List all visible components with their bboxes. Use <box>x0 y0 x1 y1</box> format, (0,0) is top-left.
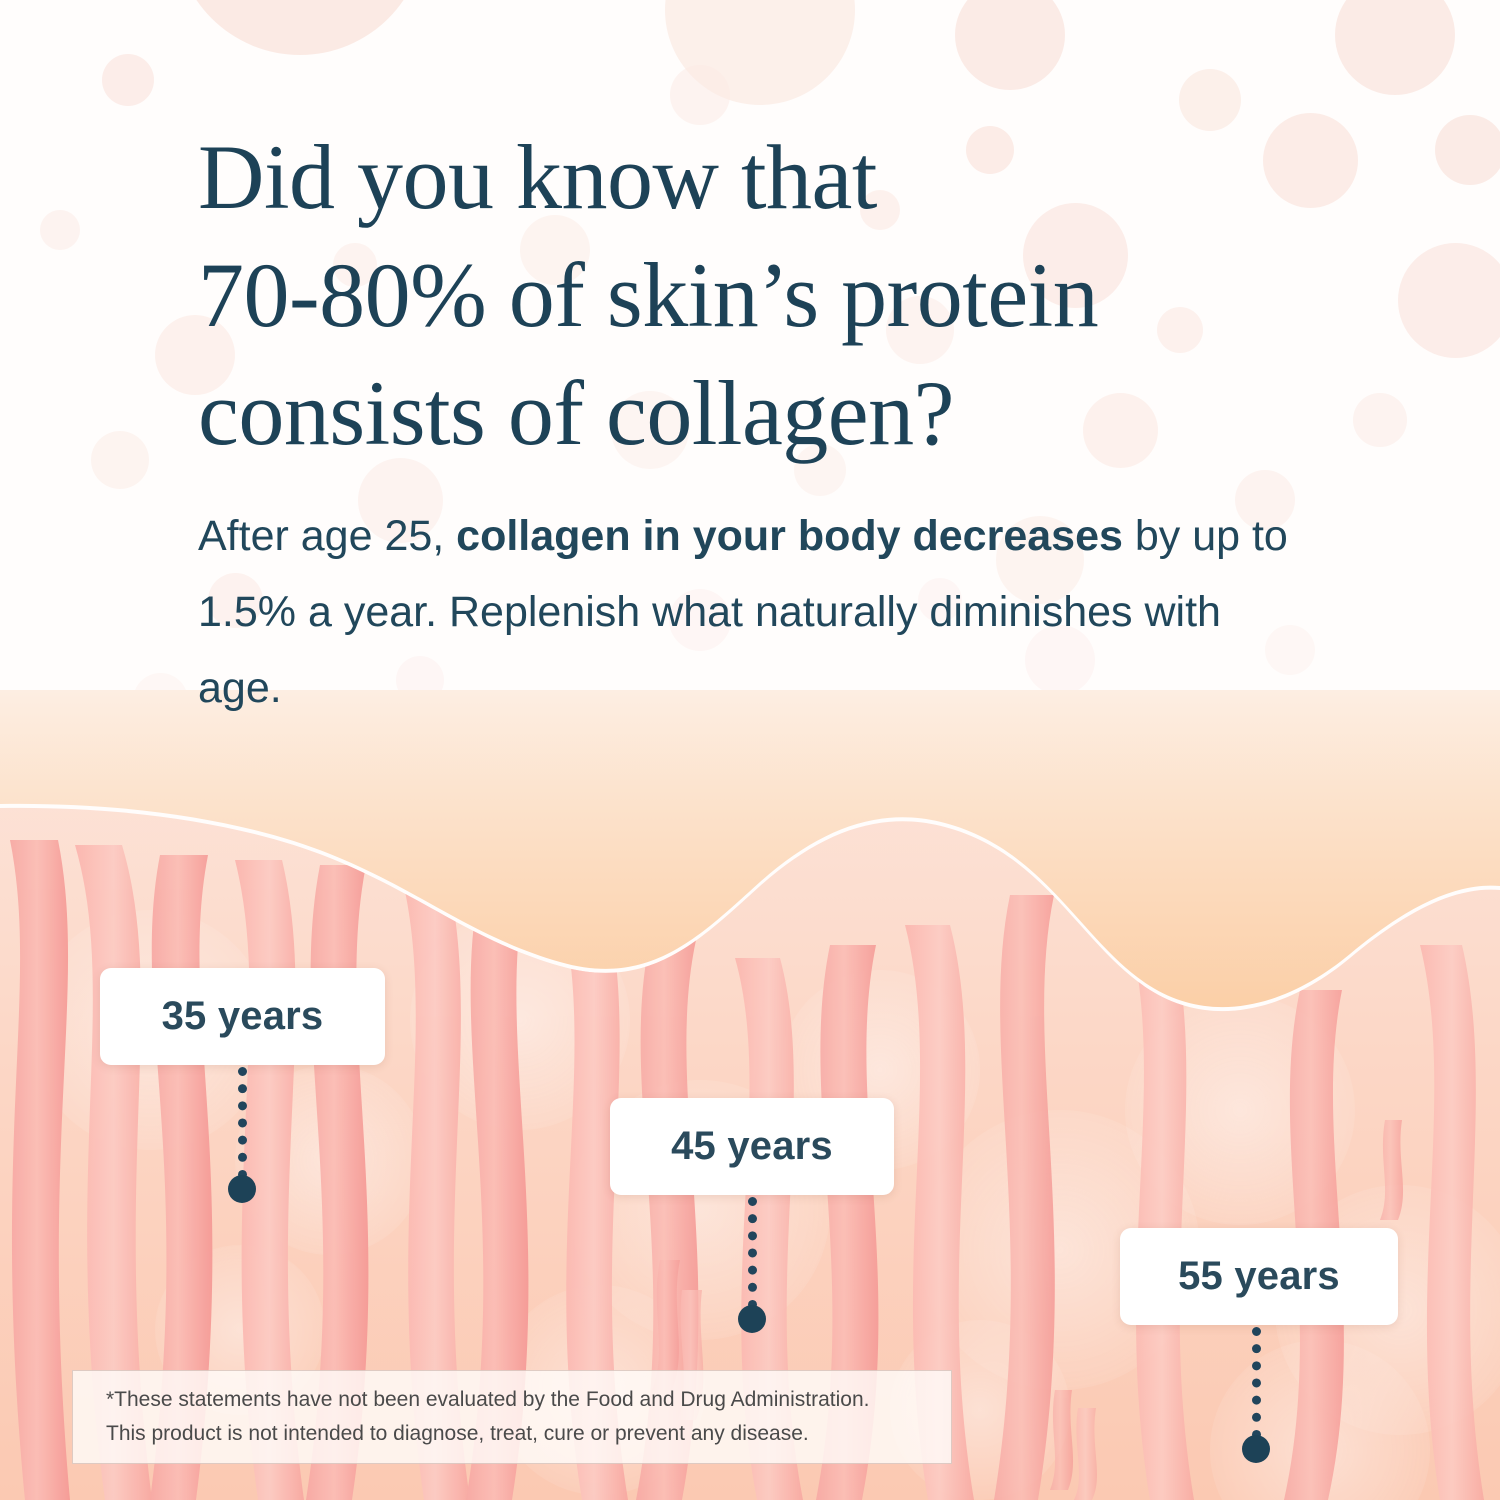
headline-line-1: Did you know that <box>198 118 1358 236</box>
disclaimer-line-2: This product is not intended to diagnose… <box>106 1417 951 1451</box>
callout-stem-35 <box>238 1067 247 1179</box>
background-bubble <box>91 431 149 489</box>
callout-55-years: 55 years <box>1120 1228 1410 1488</box>
callout-label-35: 35 years <box>162 994 324 1039</box>
fda-disclaimer-box: *These statements have not been evaluate… <box>72 1370 952 1464</box>
callout-dot-45 <box>738 1305 766 1333</box>
callout-label-55: 55 years <box>1178 1254 1340 1299</box>
callout-card-45[interactable]: 45 years <box>610 1098 894 1195</box>
page-headline: Did you know that 70-80% of skin’s prote… <box>198 118 1358 472</box>
callout-stem-55 <box>1252 1327 1261 1439</box>
background-bubble <box>1335 0 1455 95</box>
callout-45-years: 45 years <box>610 1098 900 1358</box>
disclaimer-line-1: *These statements have not been evaluate… <box>106 1383 951 1417</box>
callout-label-45: 45 years <box>671 1124 833 1169</box>
callout-card-35[interactable]: 35 years <box>100 968 385 1065</box>
background-bubble <box>1353 393 1407 447</box>
subcopy-paragraph: After age 25, collagen in your body decr… <box>198 498 1288 726</box>
background-bubble <box>1398 243 1500 358</box>
callout-card-55[interactable]: 55 years <box>1120 1228 1398 1325</box>
callout-35-years: 35 years <box>100 968 390 1228</box>
subcopy-part-1: After age 25, <box>198 512 456 560</box>
background-bubble <box>175 0 425 55</box>
headline-line-3: consists of collagen? <box>198 354 1358 472</box>
subcopy-bold-1: collagen in your body decreases <box>456 512 1123 560</box>
background-bubble <box>102 54 154 106</box>
callout-dot-35 <box>228 1175 256 1203</box>
background-bubble <box>40 210 80 250</box>
callout-dot-55 <box>1242 1435 1270 1463</box>
callout-stem-45 <box>748 1197 757 1309</box>
background-bubble <box>1435 115 1500 185</box>
background-bubble <box>955 0 1065 90</box>
headline-line-2: 70-80% of skin’s protein <box>198 236 1358 354</box>
infographic-canvas: Did you know that 70-80% of skin’s prote… <box>0 0 1500 1500</box>
